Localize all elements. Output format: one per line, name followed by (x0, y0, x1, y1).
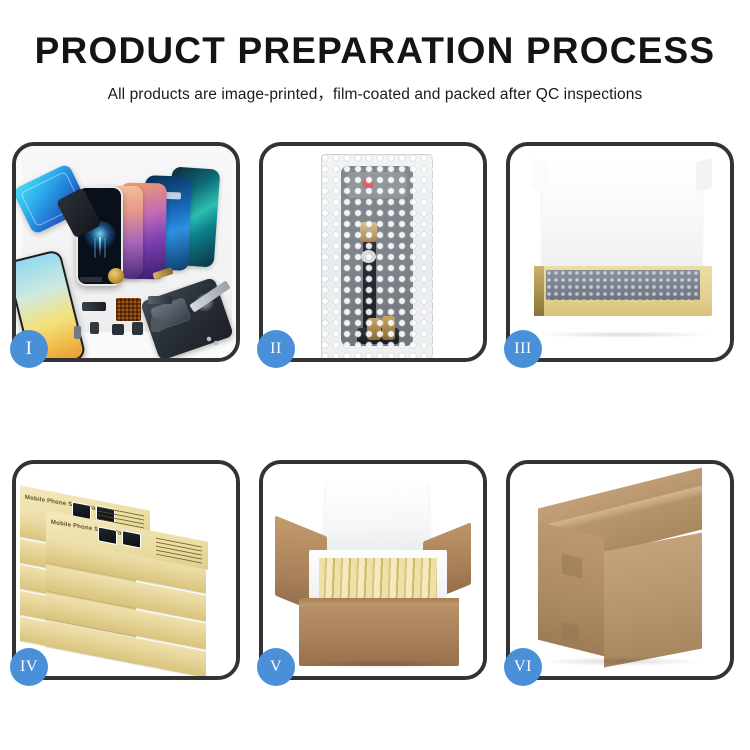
carton-front-face (299, 604, 459, 666)
step-1-image (16, 146, 236, 358)
step-4-image: Mobile Phone Spare Parts Mobile Phone Sp… (16, 464, 236, 676)
box-label-text: Mobile Phone Spare Parts (25, 495, 104, 514)
drop-shadow (544, 657, 700, 666)
step-badge-3: III (504, 330, 542, 368)
yellow-boxes-inside (319, 558, 437, 600)
box-spec-lines (156, 536, 202, 564)
small-part-b-icon (112, 324, 124, 335)
process-step-panel-3[interactable]: III (506, 142, 734, 362)
drop-shadow (536, 331, 712, 338)
drop-shadow (303, 660, 459, 668)
page-subtitle: All products are image-printed，film-coat… (0, 82, 750, 104)
header: PRODUCT PREPARATION PROCESS All products… (0, 0, 750, 104)
process-step-panel-2[interactable]: II (259, 142, 487, 362)
process-step-panel-5[interactable]: V (259, 460, 487, 680)
process-step-panel-4[interactable]: Mobile Phone Spare Parts Mobile Phone Sp… (12, 460, 240, 680)
step-badge-6: VI (504, 648, 542, 686)
bubble-wrapped-contents (546, 270, 700, 300)
chip-grid-part-icon (116, 298, 141, 321)
step-badge-1: I (10, 330, 48, 368)
small-part-a-icon (90, 322, 99, 334)
box-stack: Mobile Phone Spare Parts Mobile Phone Sp… (18, 478, 234, 676)
step-badge-5: V (257, 648, 295, 686)
carton-right-face (604, 532, 702, 667)
step-badge-4: IV (10, 648, 48, 686)
small-part-c-icon (132, 322, 143, 335)
box-screen-print-icon (98, 526, 117, 545)
flex-cable-b-icon (148, 296, 172, 304)
strip-part-icon (80, 277, 102, 282)
product-preparation-infographic: PRODUCT PREPARATION PROCESS All products… (0, 0, 750, 750)
step-5-image (263, 464, 483, 676)
process-step-panel-6[interactable]: VI (506, 460, 734, 680)
step-badge-2: II (257, 330, 295, 368)
flex-cable-c-icon (82, 302, 106, 311)
foam-lid-open (323, 482, 432, 553)
step-3-image (510, 146, 730, 358)
process-step-panel-1[interactable]: I (12, 142, 240, 362)
step-2-image (263, 146, 483, 358)
screws-icon (206, 336, 220, 346)
bubble-texture (321, 154, 433, 358)
coil-part-icon (108, 268, 124, 284)
foam-lid (542, 162, 702, 274)
yellow-box-tray (534, 266, 712, 316)
small-part-e-icon (74, 326, 81, 339)
step-6-image (510, 464, 730, 676)
small-part-d-icon (151, 318, 161, 332)
process-step-grid: I II (12, 142, 738, 680)
box-side-lip (534, 266, 544, 316)
bubble-wrap-bag (321, 154, 433, 358)
box-screen-print-icon (122, 530, 141, 549)
page-title: PRODUCT PREPARATION PROCESS (0, 32, 750, 71)
